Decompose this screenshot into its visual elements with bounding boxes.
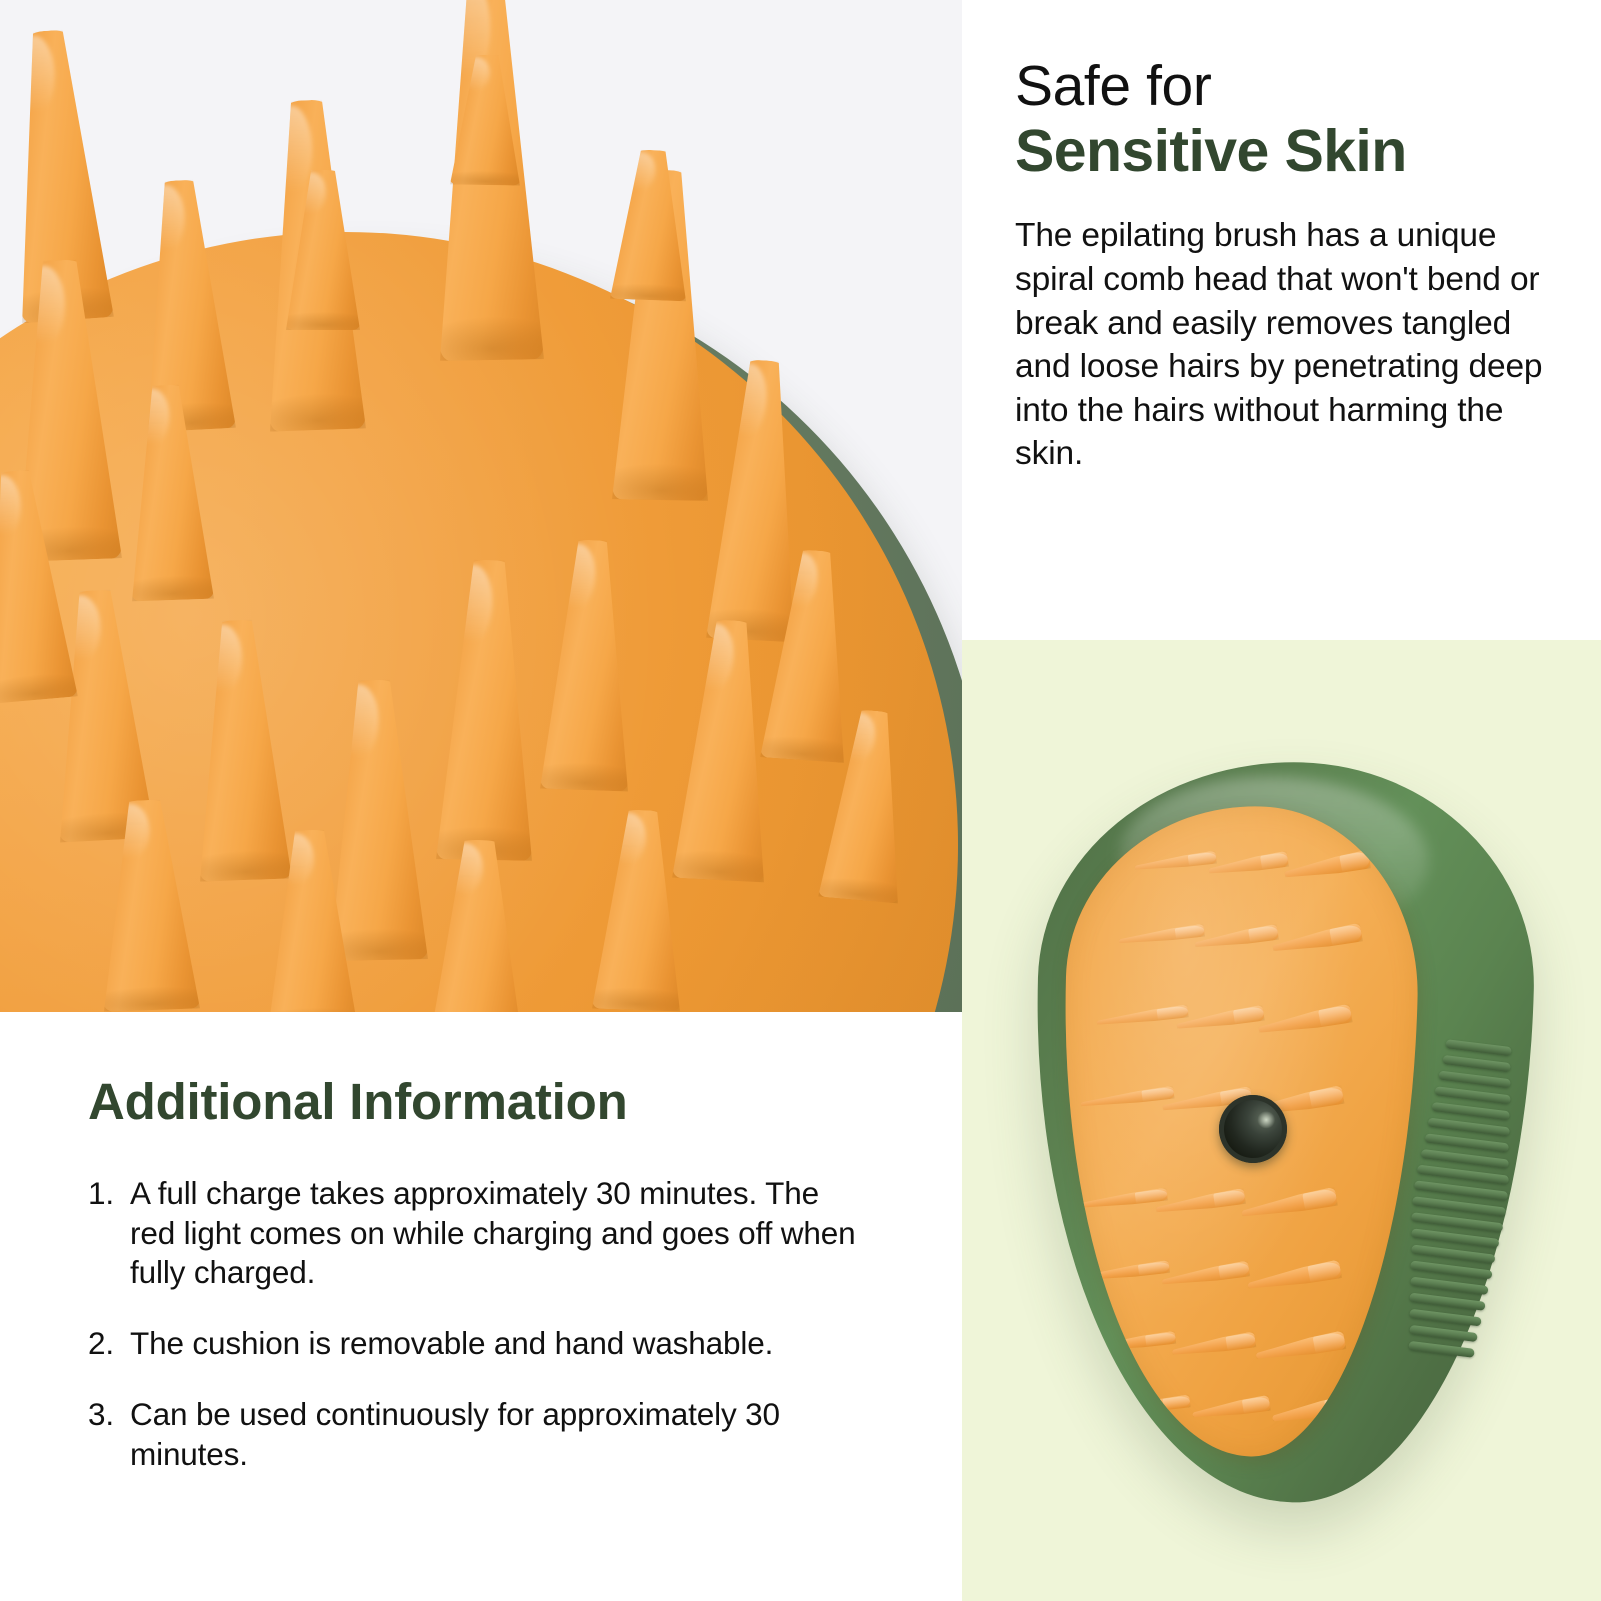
grip-rib: [1410, 1261, 1492, 1280]
product-photo-panel: [962, 640, 1601, 1601]
sensitive-skin-body-text: The epilating brush has a unique spiral …: [1015, 214, 1565, 475]
bristle-wedge: [1194, 924, 1279, 953]
heading-additional-information: Additional Information: [88, 1074, 922, 1130]
grip-rib: [1445, 1039, 1512, 1056]
bristle-wedge: [1134, 851, 1217, 875]
info-item-text: A full charge takes approximately 30 min…: [130, 1174, 860, 1293]
sensitive-skin-panel: Safe for Sensitive Skin The epilating br…: [962, 0, 1601, 640]
bristle-wedge: [1254, 1330, 1346, 1365]
bristle-wedge: [1155, 1188, 1246, 1218]
grip-rib: [1410, 1277, 1489, 1295]
bristle-wedge: [1080, 1086, 1175, 1111]
bristle-wedge: [1171, 1331, 1256, 1360]
grip-rib: [1411, 1245, 1495, 1264]
grip-rib: [1409, 1293, 1486, 1311]
info-item-number: 3.: [88, 1395, 130, 1474]
bristle-wedge: [1246, 1259, 1342, 1295]
bristle-wedge: [1257, 1004, 1353, 1040]
info-list-item: 3.Can be used continuously for approxima…: [88, 1395, 922, 1474]
grip-rib: [1442, 1055, 1511, 1072]
grip-rib: [1434, 1086, 1511, 1104]
bristle-wedge: [1240, 1187, 1338, 1223]
info-item-text: The cushion is removable and hand washab…: [130, 1324, 860, 1364]
grip-rib: [1428, 1118, 1510, 1137]
macro-bristle-photo: [0, 0, 962, 1012]
info-item-number: 2.: [88, 1324, 130, 1364]
grip-rib: [1408, 1341, 1475, 1358]
bristle-wedge: [1175, 1005, 1264, 1035]
info-item-number: 1.: [88, 1174, 130, 1293]
infographic-page: Safe for Sensitive Skin The epilating br…: [0, 0, 1601, 1601]
steam-brush-product: [1034, 762, 1530, 1502]
info-list-item: 2.The cushion is removable and hand wash…: [88, 1324, 922, 1364]
grip-rib: [1425, 1133, 1509, 1152]
bristle-wedge: [1073, 1188, 1168, 1213]
additional-information-list: 1.A full charge takes approximately 30 m…: [88, 1174, 922, 1474]
info-list-item: 1.A full charge takes approximately 30 m…: [88, 1174, 922, 1293]
bristle-wedge: [1208, 851, 1290, 879]
grip-rib: [1438, 1071, 1511, 1089]
bristle-wedge: [1191, 1395, 1271, 1423]
bristle-wedge: [1118, 924, 1205, 948]
heading-sensitive-skin: Sensitive Skin: [1015, 118, 1565, 184]
grip-rib: [1409, 1309, 1482, 1327]
additional-information-panel: Additional Information 1.A full charge t…: [0, 1012, 962, 1601]
grip-rib: [1409, 1325, 1478, 1342]
info-item-text: Can be used continuously for approximate…: [130, 1395, 860, 1474]
bristle-wedge: [1096, 1004, 1189, 1029]
grip-rib: [1432, 1102, 1511, 1120]
bristle-wedge: [1271, 923, 1363, 958]
bristle-wedge: [1161, 1260, 1250, 1290]
bristle-wedge: [1283, 850, 1371, 884]
heading-safe-for: Safe for: [1015, 56, 1565, 116]
